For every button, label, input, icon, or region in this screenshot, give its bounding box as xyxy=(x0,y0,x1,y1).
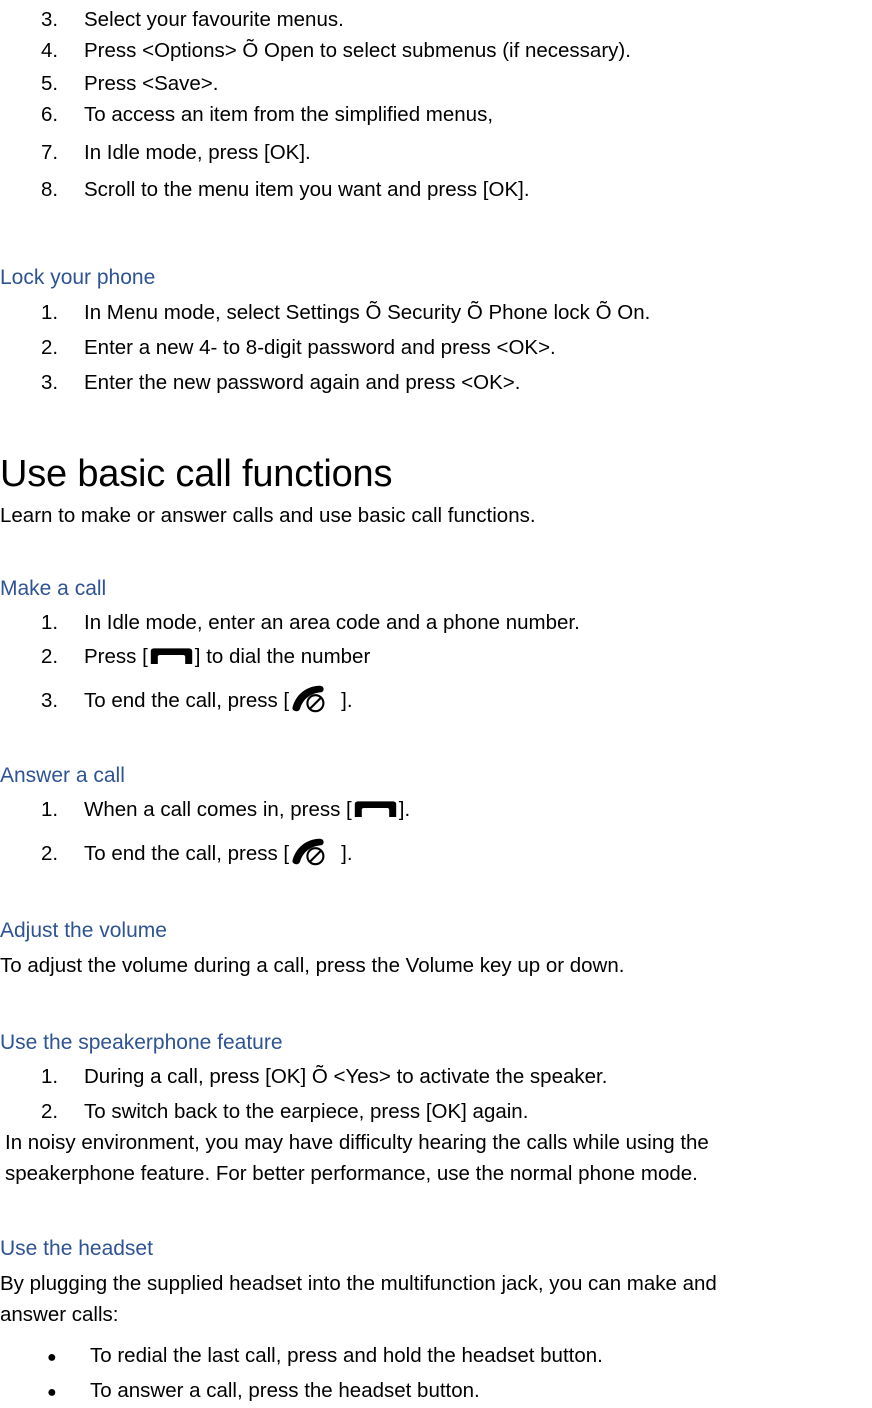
list-item: 6. To access an item from the simplified… xyxy=(0,99,872,130)
text-after-icon: ]. xyxy=(341,689,352,712)
section-heading-speakerphone: Use the speakerphone feature xyxy=(0,1029,872,1056)
lock-phone-step-list: 1. In Menu mode, select Settings Õ Secur… xyxy=(0,297,872,398)
bullet-icon: ● xyxy=(0,1342,90,1373)
list-item: 7. In Idle mode, press [OK]. xyxy=(0,137,872,168)
section-heading-lock-your-phone: Lock your phone xyxy=(0,264,872,291)
list-item-text: To switch back to the earpiece, press [O… xyxy=(84,1096,528,1127)
speakerphone-note-line-2: speakerphone feature. For better perform… xyxy=(0,1158,872,1189)
speakerphone-step-list: 1. During a call, press [OK] Õ <Yes> to … xyxy=(0,1061,872,1127)
list-item-marker: 1. xyxy=(0,297,84,328)
list-item-text: Enter the new password again and press <… xyxy=(84,367,520,398)
section-heading-answer-a-call: Answer a call xyxy=(0,762,872,789)
speakerphone-note-line-1: In noisy environment, you may have diffi… xyxy=(0,1127,872,1158)
text-before-icon: To end the call, press [ xyxy=(84,689,289,712)
section-heading-adjust-the-volume: Adjust the volume xyxy=(0,917,872,944)
spacer xyxy=(0,205,872,264)
list-item-marker: 3. xyxy=(0,367,84,398)
list-item-marker: 2. xyxy=(0,1096,84,1127)
list-item: 8. Scroll to the menu item you want and … xyxy=(0,174,872,205)
list-item: 1. In Idle mode, enter an area code and … xyxy=(0,607,872,638)
page-title: Use basic call functions xyxy=(0,451,872,497)
favourite-menus-step-list: 3. Select your favourite menus. 4. Press… xyxy=(0,0,872,205)
section-heading-use-the-headset: Use the headset xyxy=(0,1235,872,1262)
list-item: 3. Enter the new password again and pres… xyxy=(0,367,872,398)
list-item: 2. Enter a new 4- to 8-digit password an… xyxy=(0,332,872,363)
text-after-icon: ] to dial the number xyxy=(195,645,371,668)
list-item-text: To end the call, press []. xyxy=(84,684,353,716)
list-item-text: Enter a new 4- to 8-digit password and p… xyxy=(84,332,556,363)
spacer xyxy=(0,869,872,917)
list-item-marker: 2. xyxy=(0,641,84,672)
list-item-text: Press <Save>. xyxy=(84,68,218,99)
text-after-icon: ]. xyxy=(341,842,352,865)
text-before-icon: To end the call, press [ xyxy=(84,842,289,865)
list-item-text: To answer a call, press the headset butt… xyxy=(90,1375,480,1406)
spacer xyxy=(0,1330,872,1340)
list-item-text: Press [] to dial the number xyxy=(84,641,370,672)
list-item-text: To end the call, press []. xyxy=(84,837,353,869)
list-item: 2. Press [] to dial the number xyxy=(0,641,872,672)
list-item: 3. Select your favourite menus. xyxy=(0,4,872,35)
section-heading-make-a-call: Make a call xyxy=(0,575,872,602)
spacer xyxy=(0,531,872,575)
list-item-marker: 2. xyxy=(0,838,84,869)
list-item: 2. To switch back to the earpiece, press… xyxy=(0,1096,872,1127)
list-item-marker: 3. xyxy=(0,685,84,716)
list-item-text: To redial the last call, press and hold … xyxy=(90,1340,603,1371)
bullet-icon: ● xyxy=(0,1377,90,1408)
list-item-marker: 4. xyxy=(0,35,84,66)
list-item-marker: 1. xyxy=(0,607,84,638)
end-call-icon xyxy=(290,837,337,867)
list-item-text: During a call, press [OK] Õ <Yes> to act… xyxy=(84,1061,607,1092)
headset-intro-line-2: answer calls: xyxy=(0,1299,872,1330)
text-before-icon: Press [ xyxy=(84,645,148,668)
dial-handset-icon xyxy=(353,801,398,818)
text-before-icon: When a call comes in, press [ xyxy=(84,798,352,821)
text-after-icon: ]. xyxy=(399,798,410,821)
list-item-marker: 1. xyxy=(0,794,84,825)
list-item: 2. To end the call, press []. xyxy=(0,837,872,869)
list-item: 4. Press <Options> Õ Open to select subm… xyxy=(0,35,872,66)
dial-handset-icon xyxy=(149,648,194,665)
list-item-marker: 6. xyxy=(0,99,84,130)
spacer xyxy=(0,1189,872,1235)
headset-bullet-list: ● To redial the last call, press and hol… xyxy=(0,1340,872,1408)
list-item: 1. During a call, press [OK] Õ <Yes> to … xyxy=(0,1061,872,1092)
list-item: ● To redial the last call, press and hol… xyxy=(0,1340,872,1373)
list-item-marker: 5. xyxy=(0,68,84,99)
list-item-text: In Idle mode, enter an area code and a p… xyxy=(84,607,580,638)
list-item-text: In Menu mode, select Settings Õ Security… xyxy=(84,297,650,328)
list-item: ● To answer a call, press the headset bu… xyxy=(0,1375,872,1408)
basic-call-intro: Learn to make or answer calls and use ba… xyxy=(0,500,872,531)
list-item-text: To access an item from the simplified me… xyxy=(84,99,493,130)
list-item-text: Select your favourite menus. xyxy=(84,4,344,35)
document-page: 3. Select your favourite menus. 4. Press… xyxy=(0,0,872,1403)
list-item-text: When a call comes in, press []. xyxy=(84,794,410,825)
list-item-marker: 7. xyxy=(0,137,84,168)
list-item-text: Scroll to the menu item you want and pre… xyxy=(84,174,530,205)
list-item-marker: 3. xyxy=(0,4,84,35)
list-item: 1. In Menu mode, select Settings Õ Secur… xyxy=(0,297,872,328)
adjust-volume-text: To adjust the volume during a call, pres… xyxy=(0,950,872,981)
list-item-text: In Idle mode, press [OK]. xyxy=(84,137,311,168)
end-call-icon xyxy=(290,684,337,714)
spacer xyxy=(0,398,872,451)
list-item-marker: 1. xyxy=(0,1061,84,1092)
list-item-text: Press <Options> Õ Open to select submenu… xyxy=(84,35,631,66)
spacer xyxy=(0,981,872,1029)
list-item-marker: 2. xyxy=(0,332,84,363)
headset-intro-line-1: By plugging the supplied headset into th… xyxy=(0,1268,872,1299)
list-item: 5. Press <Save>. xyxy=(0,68,872,99)
spacer xyxy=(0,716,872,762)
list-item-marker: 8. xyxy=(0,174,84,205)
list-item: 1. When a call comes in, press []. xyxy=(0,794,872,825)
list-item: 3. To end the call, press []. xyxy=(0,684,872,716)
